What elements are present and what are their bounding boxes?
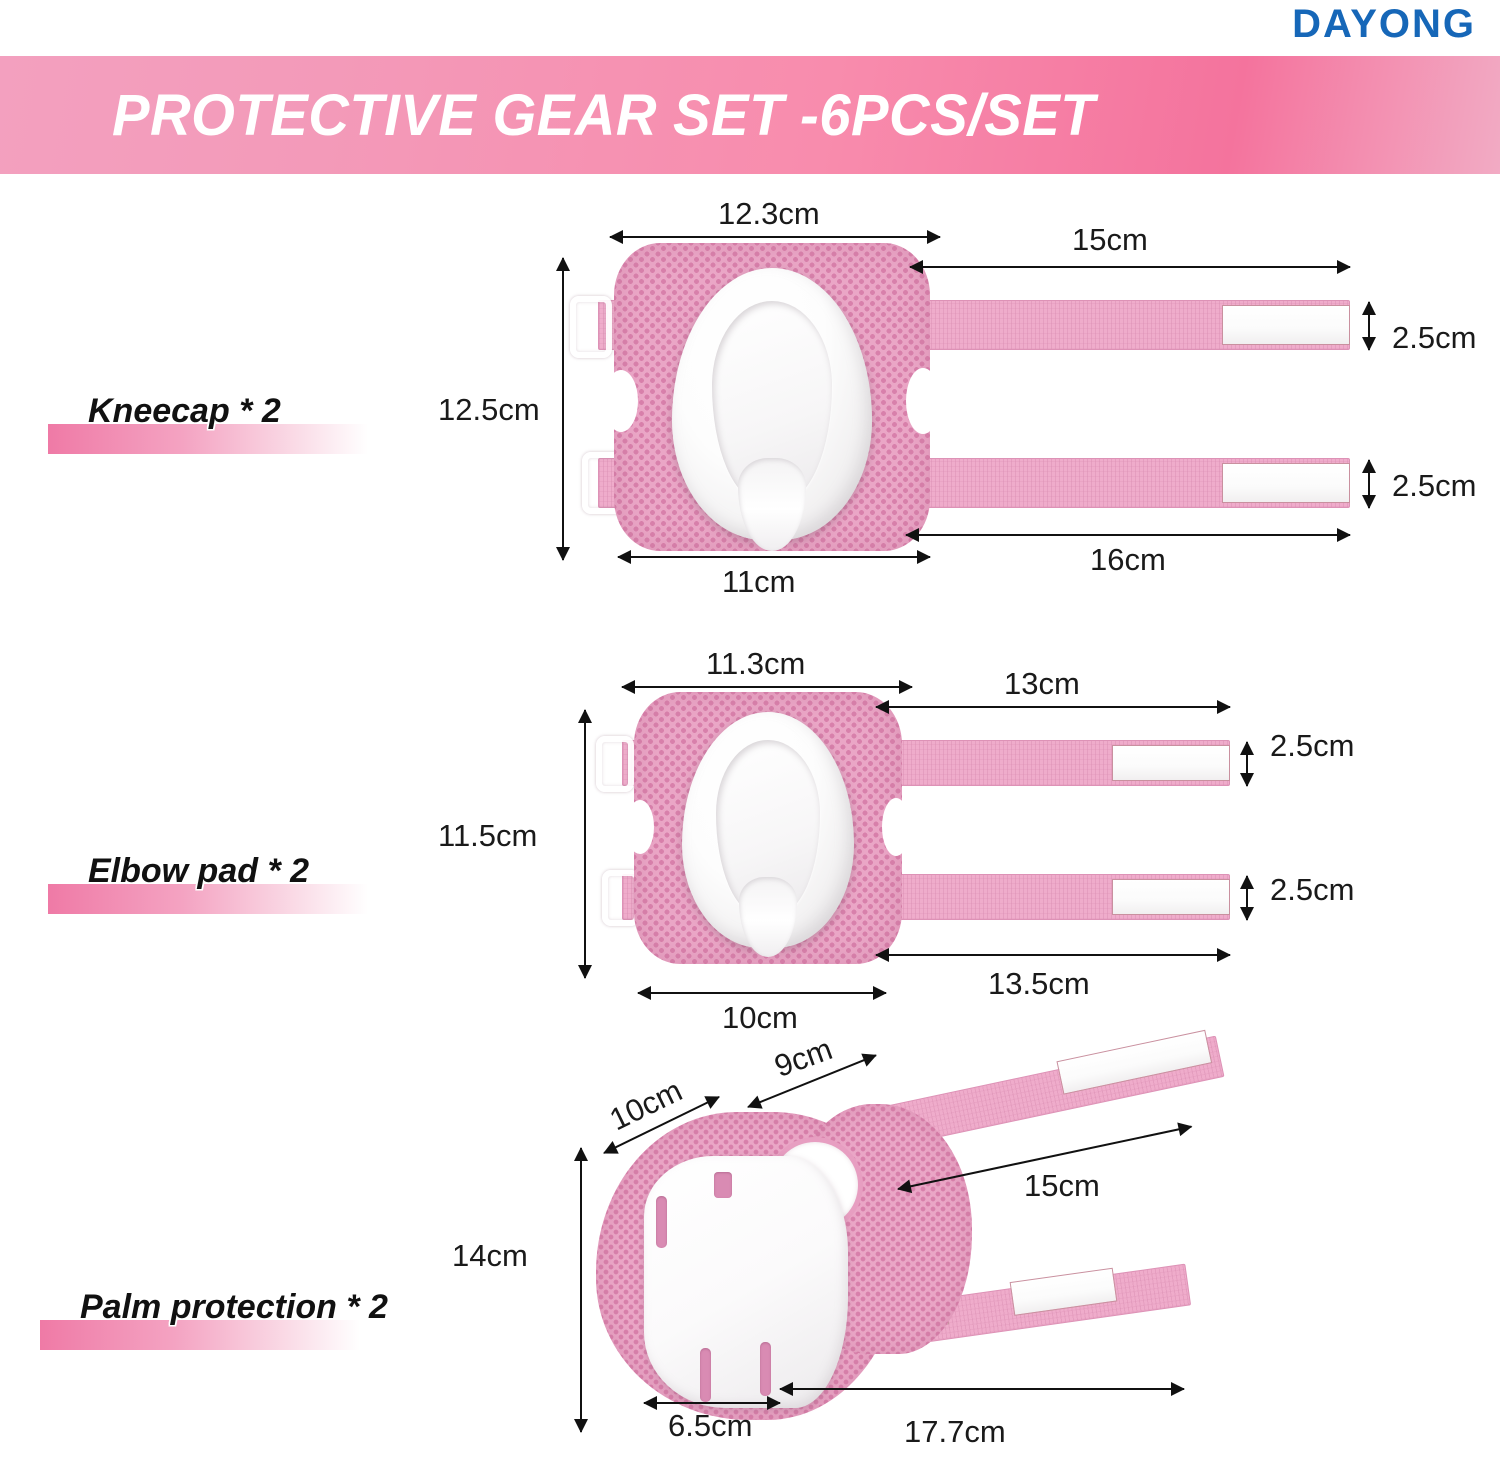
arrow-palm-height	[580, 1148, 582, 1432]
title-banner: PROTECTIVE GEAR SET -6PCS/SET	[0, 56, 1500, 174]
dim-elbow-strap-bottom-width: 2.5cm	[1270, 872, 1354, 908]
elbow-shell-tip	[739, 877, 797, 957]
dim-kneecap-strap-bottom-length: 16cm	[1090, 542, 1166, 578]
dim-elbow-strap-top-width: 2.5cm	[1270, 728, 1354, 764]
elbow-notch-right	[882, 798, 910, 856]
kneecap-velcro-top	[1222, 305, 1350, 345]
brand-logo: DAYONG	[1292, 2, 1476, 47]
page-title: PROTECTIVE GEAR SET -6PCS/SET	[112, 82, 1095, 149]
dim-kneecap-strap-bottom-width: 2.5cm	[1392, 468, 1476, 504]
dim-elbow-bottom-width: 10cm	[722, 1000, 798, 1036]
kneecap-shell-tip	[738, 458, 806, 550]
dim-elbow-strap-bottom-length: 13.5cm	[988, 966, 1090, 1002]
section-label-text: Palm protection * 2	[40, 1288, 412, 1327]
arrow-elbow-strap-top-length	[876, 706, 1230, 708]
arrow-elbow-top-width	[622, 686, 912, 688]
arrow-kneecap-bottom-width	[618, 556, 930, 558]
section-label-palm-protection: Palm protection * 2	[40, 1288, 412, 1350]
arrow-kneecap-height	[562, 258, 564, 560]
kneecap-notch-right	[906, 368, 940, 434]
dim-palm-strap-top-length: 15cm	[1024, 1168, 1100, 1204]
elbow-notch-left	[626, 800, 654, 854]
product-infographic: DAYONG PROTECTIVE GEAR SET -6PCS/SET Kne…	[0, 0, 1500, 1459]
arrow-elbow-strap-bottom-length	[876, 954, 1230, 956]
section-label-text: Kneecap * 2	[48, 392, 388, 431]
section-label-text: Elbow pad * 2	[48, 852, 400, 891]
dim-elbow-height: 11.5cm	[438, 818, 537, 854]
elbow-buckle-top	[596, 736, 634, 792]
section-label-elbow-pad: Elbow pad * 2	[48, 852, 400, 914]
kneecap-buckle-top	[570, 296, 612, 358]
palm-plate-slot-top	[714, 1172, 732, 1198]
dim-kneecap-height: 12.5cm	[438, 392, 540, 428]
arrow-palm-bottom-width	[644, 1402, 780, 1404]
dim-kneecap-strap-top-width: 2.5cm	[1392, 320, 1476, 356]
arrow-palm-strap-bottom-length	[780, 1388, 1184, 1390]
dim-palm-height: 14cm	[452, 1238, 528, 1274]
kneecap-velcro-bottom	[1222, 463, 1350, 503]
arrow-elbow-strap-bottom-width	[1246, 876, 1248, 920]
section-label-kneecap: Kneecap * 2	[48, 392, 388, 454]
kneecap-notch-left	[604, 370, 638, 432]
arrow-elbow-strap-top-width	[1246, 742, 1248, 786]
elbow-velcro-bottom	[1112, 879, 1230, 915]
elbow-velcro-top	[1112, 745, 1230, 781]
arrow-kneecap-strap-bottom-length	[906, 534, 1350, 536]
palm-plate	[644, 1156, 848, 1408]
palm-plate-slot-left	[656, 1196, 667, 1248]
arrow-kneecap-strap-top-width	[1368, 302, 1370, 350]
dim-palm-bottom-width: 6.5cm	[668, 1408, 752, 1444]
arrow-kneecap-strap-bottom-width	[1368, 460, 1370, 508]
arrow-kneecap-top-width	[610, 236, 940, 238]
palm-plate-slot-bottom-right	[760, 1342, 771, 1396]
arrow-elbow-bottom-width	[638, 992, 886, 994]
arrow-elbow-height	[584, 710, 586, 978]
dim-kneecap-top-width: 12.3cm	[718, 196, 820, 232]
dim-palm-strap-bottom-length: 17.7cm	[904, 1414, 1006, 1450]
dim-palm-upper-right-edge: 9cm	[770, 1031, 837, 1085]
dim-kneecap-strap-top-length: 15cm	[1072, 222, 1148, 258]
arrow-kneecap-strap-top-length	[910, 266, 1350, 268]
palm-plate-slot-bottom-left	[700, 1348, 711, 1402]
dim-elbow-strap-top-length: 13cm	[1004, 666, 1080, 702]
dim-kneecap-bottom-width: 11cm	[722, 564, 796, 600]
dim-elbow-top-width: 11.3cm	[706, 646, 805, 682]
